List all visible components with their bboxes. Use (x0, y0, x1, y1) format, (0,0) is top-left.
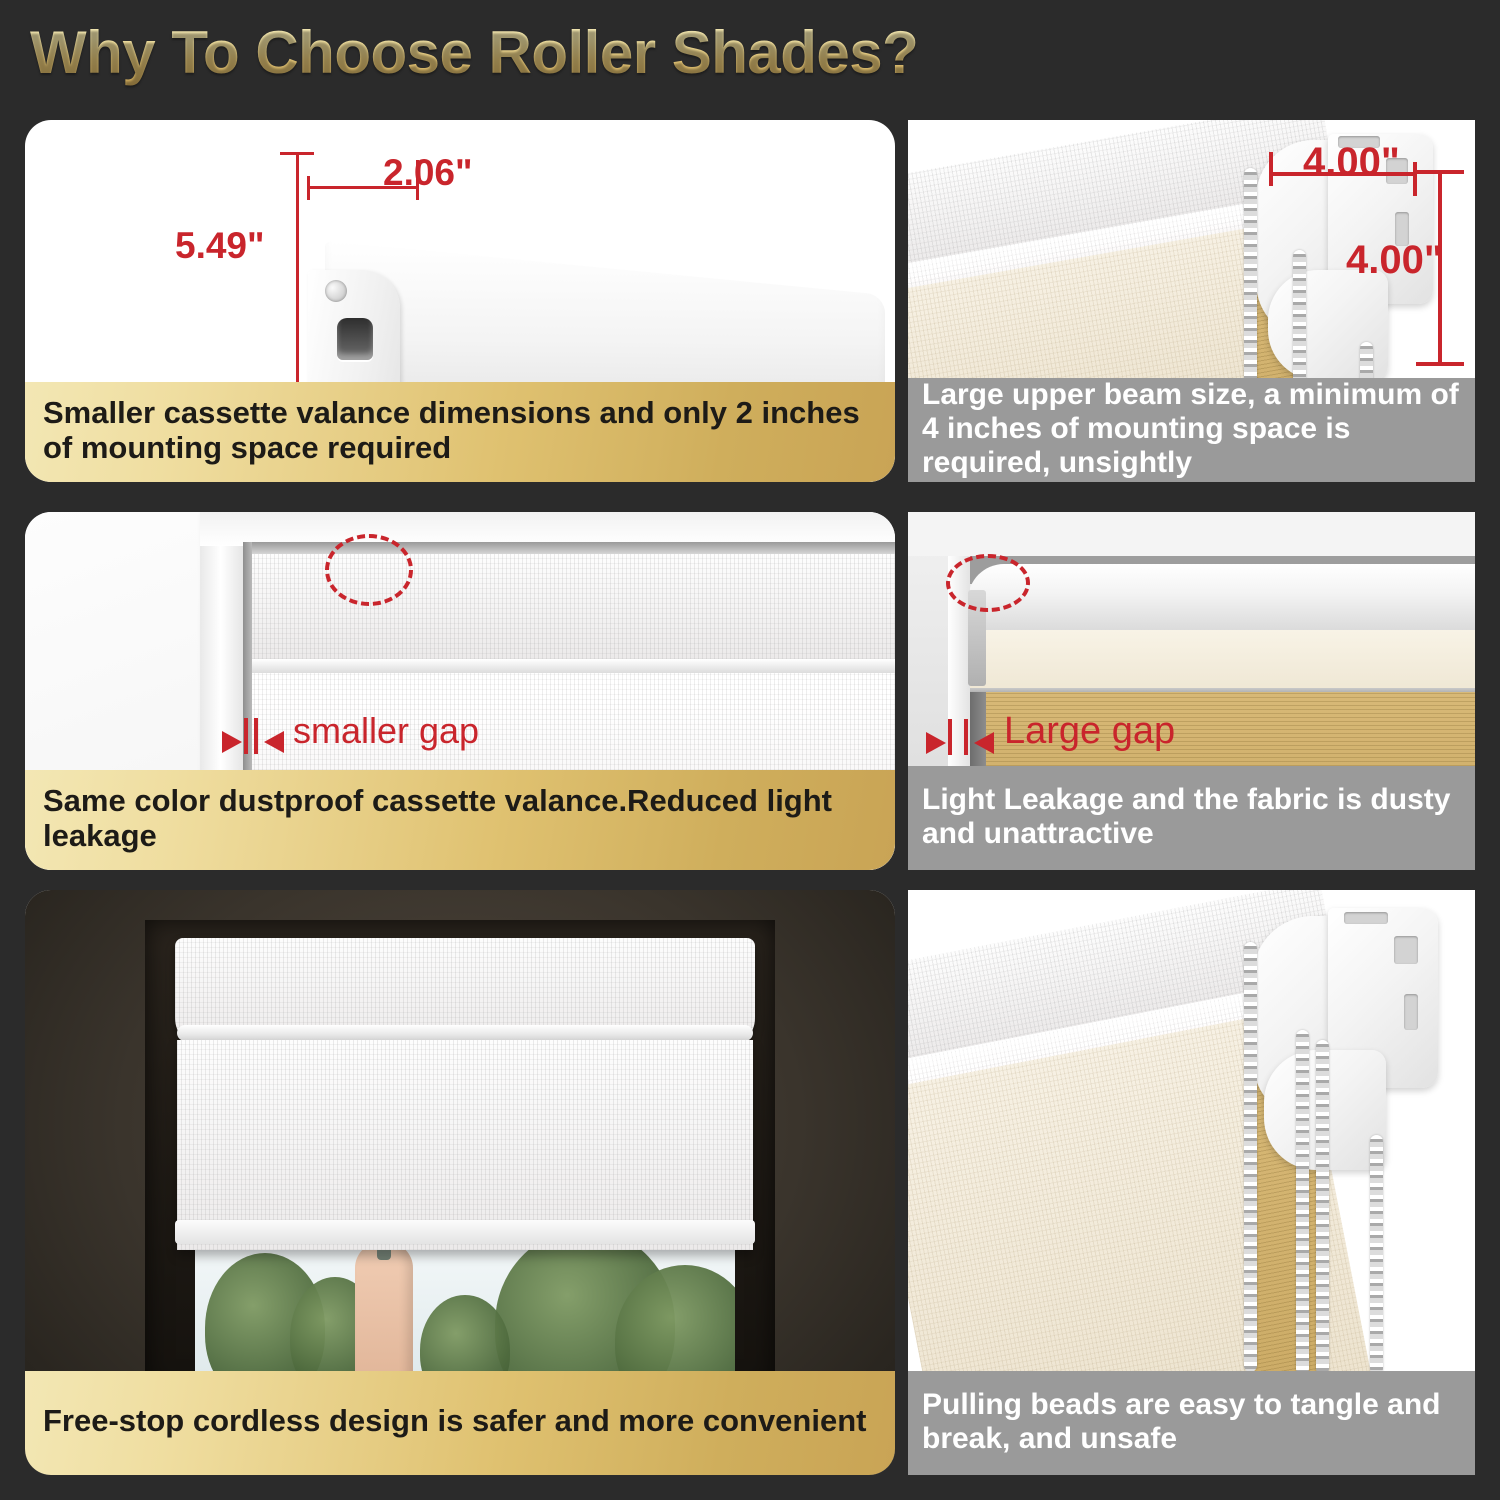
bead-chain-3 (1316, 1040, 1329, 1375)
gap-arrow-right (222, 731, 242, 753)
page-title: Why To Choose Roller Shades? (30, 18, 918, 87)
panel-caption-con-2: Light Leakage and the fabric is dusty an… (908, 766, 1475, 870)
panel-caption-pro-1: Smaller cassette valance dimensions and … (25, 382, 895, 482)
panel-caption-pro-2: Same color dustproof cassette valance.Re… (25, 770, 895, 870)
panel-large-beam: 4.00" 4.00" Large upper beam size, a min… (908, 120, 1475, 482)
width-dimension-label: 2.06" (383, 152, 473, 194)
gap-arrow-left (264, 731, 284, 753)
gap-edge-left (244, 718, 248, 754)
bead-chain-2 (1296, 1030, 1309, 1375)
beam-width-tick-left (1269, 152, 1273, 186)
panel-large-gap: Large gap Light Leakage and the fabric i… (908, 512, 1475, 870)
panel-smaller-gap: smaller gap Same color dustproof cassett… (25, 512, 895, 870)
gap-highlight-circle (325, 534, 413, 606)
gap-edge-left (948, 719, 952, 755)
hand (355, 1242, 413, 1392)
panel-caption-pro-3: Free-stop cordless design is safer and m… (25, 1371, 895, 1475)
width-dimension-tick-left (307, 176, 310, 200)
bead-chain-4 (1370, 1135, 1383, 1375)
gap-callout-label: Large gap (1004, 710, 1175, 753)
gap-highlight-circle (946, 554, 1030, 612)
beam-height-tick-bottom (1416, 362, 1464, 366)
beam-width-label: 4.00" (1303, 140, 1400, 185)
height-dimension-line (296, 152, 299, 420)
beam-width-tick-right (1413, 162, 1417, 196)
panel-cassette-valance: 5.49" 2.06" Smaller cassette valance dim… (25, 120, 895, 482)
gap-arrow-left (974, 732, 994, 754)
gap-callout-label: smaller gap (293, 710, 479, 752)
panel-cordless-design: Free-stop cordless design is safer and m… (25, 890, 895, 1475)
panel-caption-con-1: Large upper beam size, a minimum of 4 in… (908, 378, 1475, 482)
gap-edge-right (964, 719, 968, 755)
gap-arrow-right (926, 732, 946, 754)
panel-pulling-beads: Pulling beads are easy to tangle and bre… (908, 890, 1475, 1475)
beam-height-label: 4.00" (1346, 238, 1443, 283)
panel-caption-con-3: Pulling beads are easy to tangle and bre… (908, 1371, 1475, 1475)
infographic-root: Why To Choose Roller Shades? 5.49" 2.06"… (0, 0, 1500, 1500)
bead-chain-1 (1244, 942, 1257, 1372)
gap-edge-right (254, 718, 258, 754)
height-dimension-label: 5.49" (175, 225, 265, 267)
beam-height-tick-top (1416, 170, 1464, 174)
height-dimension-tick-top (280, 152, 314, 155)
